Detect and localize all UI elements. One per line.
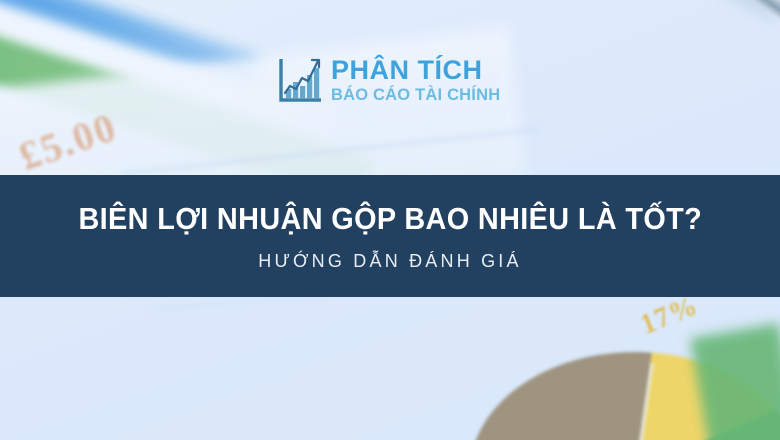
page-subtitle: HƯỚNG DẪN ĐÁNH GIÁ: [258, 251, 521, 272]
brand-name-secondary: BÁO CÁO TÀI CHÍNH: [331, 87, 500, 104]
poster-canvas: £5.00 17% PHÂN TÍCH BÁO CÁO TÀ: [0, 0, 780, 440]
page-title: BIÊN LỢI NHUẬN GỘP BAO NHIÊU LÀ TỐT?: [78, 201, 702, 237]
bar-chart-trend-icon: [277, 56, 323, 104]
brand-logo-text: PHÂN TÍCH BÁO CÁO TÀI CHÍNH: [331, 57, 500, 104]
pen-shadow: [543, 0, 780, 27]
brand-logo: PHÂN TÍCH BÁO CÁO TÀI CHÍNH: [277, 56, 500, 104]
title-banner: BIÊN LỢI NHUẬN GỘP BAO NHIÊU LÀ TỐT? HƯỚ…: [0, 175, 780, 297]
brand-name-primary: PHÂN TÍCH: [331, 57, 500, 84]
pen-icon: [512, 0, 780, 30]
pen-body: [540, 0, 780, 25]
percent-annotation: 17%: [636, 290, 703, 342]
